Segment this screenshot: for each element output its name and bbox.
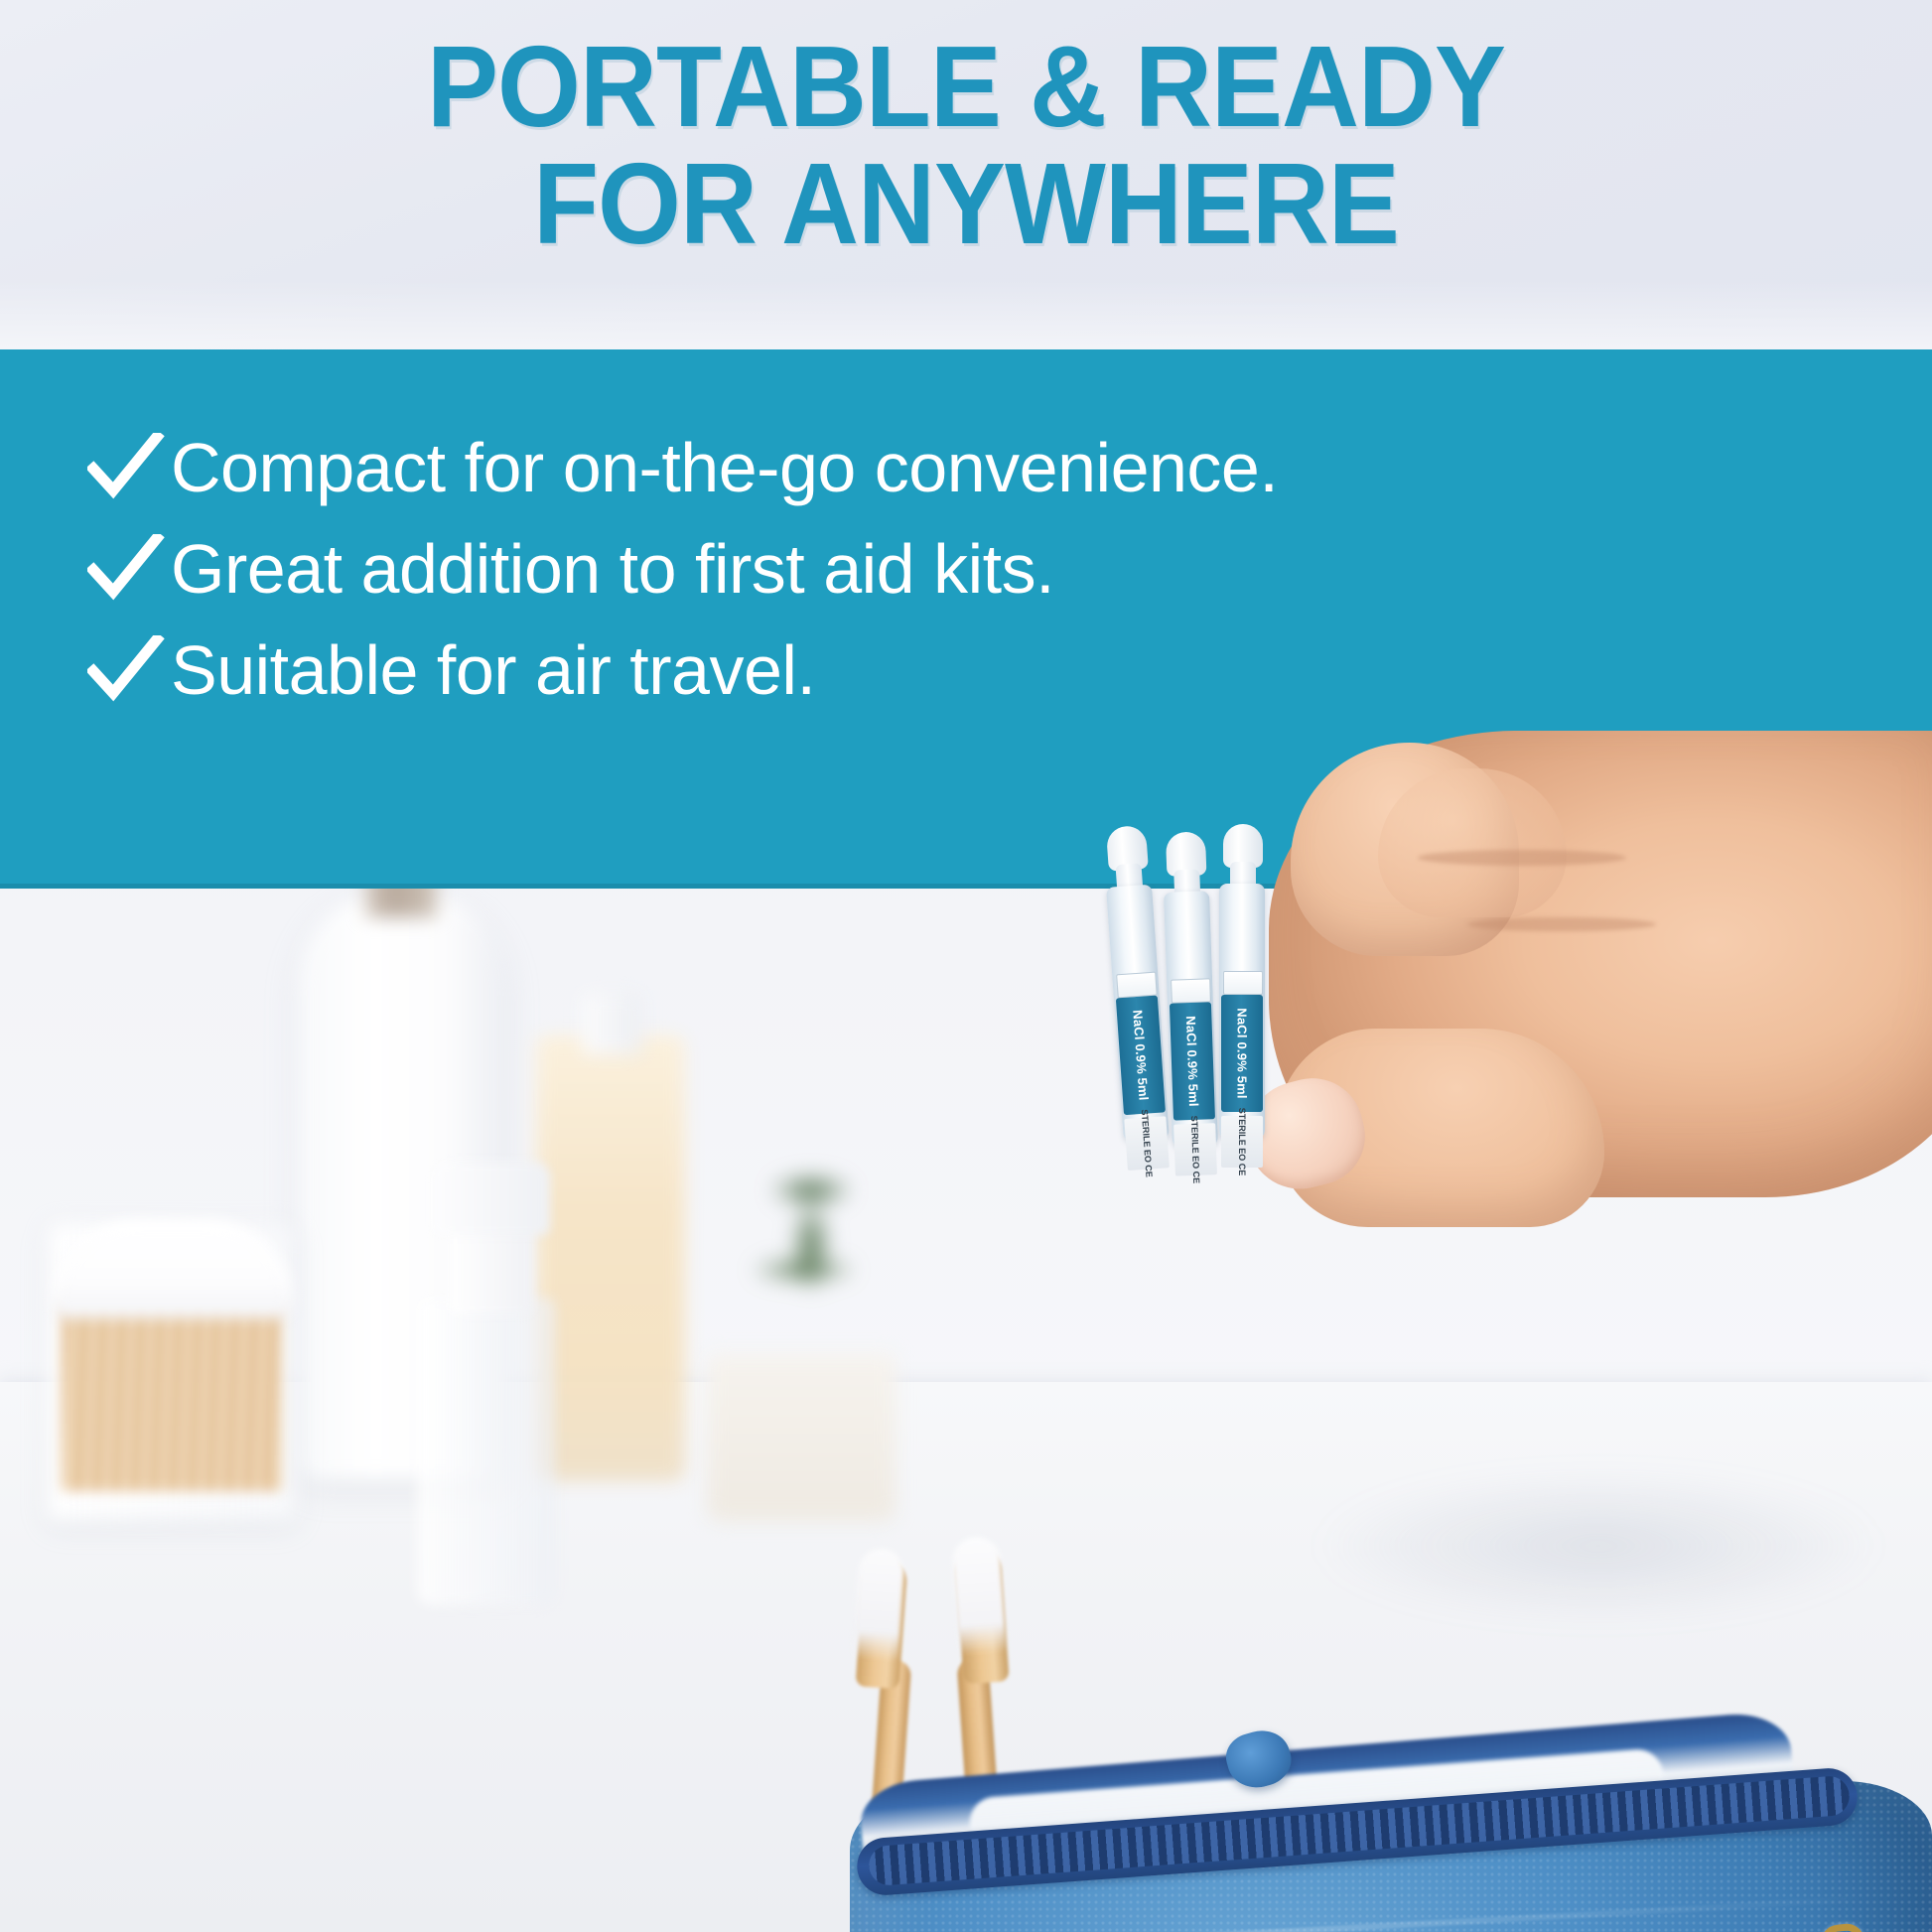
cotton-swab-tips (52, 1219, 294, 1318)
toothbrush-bristles (951, 1535, 1007, 1655)
ampoule-label-text: NaCl 0.9% 5ml (1183, 1016, 1201, 1107)
ampoule-label: NaCl 0.9% 5ml (1170, 1002, 1215, 1120)
ampoule-footer: STERILE EO CE (1173, 1123, 1217, 1175)
toothbrush-bristles (852, 1548, 905, 1662)
check-icon (87, 433, 165, 502)
header-band: PORTABLE & READY FOR ANYWHERE (0, 0, 1932, 349)
ampoule: NaCl 0.9% 5ml STERILE EO CE (1104, 855, 1170, 1146)
spray-bottle-nozzle (433, 1162, 550, 1235)
ampoule-group: NaCl 0.9% 5ml STERILE EO CE NaCl 0.9% 5m… (1110, 822, 1299, 1150)
ampoule-body: NaCl 0.9% 5ml STERILE EO CE (1219, 884, 1265, 1140)
ampoule: NaCl 0.9% 5ml STERILE EO CE (1163, 861, 1218, 1150)
ampoule-sterile-text: STERILE EO CE (1237, 1108, 1247, 1176)
spray-bottle-body (417, 1298, 556, 1605)
list-item: Great addition to first aid kits. (87, 534, 1457, 604)
spray-bottle-neck (449, 1223, 532, 1314)
cotton-swab-sticks (62, 1303, 282, 1491)
feature-list: Compact for on-the-go convenience. Great… (87, 433, 1457, 737)
potted-plant-pot (707, 1354, 896, 1521)
bag-chain (1819, 1924, 1864, 1932)
ampoule-body: NaCl 0.9% 5ml STERILE EO CE (1164, 891, 1218, 1148)
ampoule-lot-box (1116, 972, 1158, 999)
ampoule: NaCl 0.9% 5ml STERILE EO CE (1219, 854, 1265, 1142)
ampoule-body: NaCl 0.9% 5ml STERILE EO CE (1106, 885, 1170, 1144)
finger-crease (1467, 917, 1656, 931)
ampoule-footer: STERILE EO CE (1221, 1116, 1263, 1168)
ampoule-lot-box (1171, 978, 1211, 1003)
finger-crease (1418, 850, 1626, 866)
hand (1229, 731, 1932, 1247)
check-icon (87, 534, 165, 604)
feature-label: Suitable for air travel. (171, 635, 815, 705)
feature-label: Compact for on-the-go convenience. (171, 433, 1278, 502)
potted-plant-leaves (717, 1116, 905, 1364)
ampoule-lot-box (1223, 971, 1263, 995)
amber-bottle-cap (582, 993, 641, 1054)
feature-label: Great addition to first aid kits. (171, 534, 1054, 604)
amber-bottle (536, 1035, 685, 1481)
ampoule-footer: STERILE EO CE (1124, 1116, 1170, 1171)
ampoule-label: NaCl 0.9% 5ml (1221, 995, 1263, 1112)
list-item: Compact for on-the-go convenience. (87, 433, 1457, 502)
toiletry-bag (850, 1729, 1932, 1932)
list-item: Suitable for air travel. (87, 635, 1457, 705)
ampoule-label-text: NaCl 0.9% 5ml (1130, 1010, 1151, 1101)
ampoule-label-text: NaCl 0.9% 5ml (1235, 1008, 1250, 1098)
check-icon (87, 635, 165, 705)
knuckle (1378, 768, 1567, 917)
page-title: PORTABLE & READY FOR ANYWHERE (68, 28, 1864, 263)
product-infographic: PORTABLE & READY FOR ANYWHERE (0, 0, 1932, 1932)
ampoule-label: NaCl 0.9% 5ml (1116, 996, 1166, 1116)
hand-shadow (1320, 1471, 1876, 1620)
ampoule-sterile-text: STERILE EO CE (1140, 1109, 1155, 1177)
ampoule-sterile-text: STERILE EO CE (1189, 1116, 1201, 1184)
